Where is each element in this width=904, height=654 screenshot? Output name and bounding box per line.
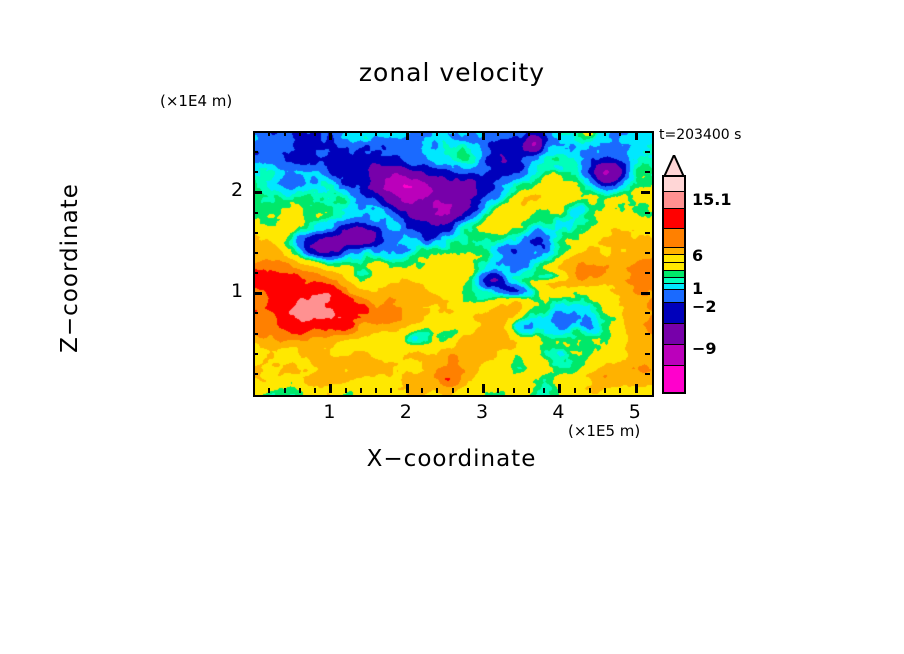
axis-tick [345,131,347,136]
axis-tick [253,151,258,153]
axis-tick [253,191,262,194]
axis-tick [299,388,301,393]
axis-tick [467,388,469,393]
axis-tick [513,131,515,136]
axis-tick [619,131,621,136]
axis-tick [528,388,530,393]
axis-tick [253,292,262,295]
axis-tick [299,131,301,136]
axis-tick [645,272,650,274]
axis-tick [543,131,545,136]
axis-tick [329,131,332,140]
colorbar-tick-label: 6 [692,246,703,265]
axis-tick [268,131,270,136]
colorbar-band [662,366,686,394]
axis-tick [390,131,392,136]
axis-tick [375,131,377,136]
axis-tick [574,388,576,393]
axis-tick [513,388,515,393]
axis-tick [253,252,258,254]
colorbar-band [662,209,686,228]
axis-tick [452,131,454,136]
colorbar-band [662,324,686,345]
axis-tick [543,388,545,393]
axis-tick [253,353,258,355]
axis-tick [314,388,316,393]
axis-tick [635,131,638,140]
colorbar-band [662,175,686,192]
axis-tick [482,384,485,393]
colorbar-band [662,345,686,366]
axis-tick [497,388,499,393]
x-tick-label: 1 [323,401,335,423]
x-axis-unit-label: (×1E5 m) [568,422,640,440]
colorbar [662,175,686,394]
axis-tick [589,388,591,393]
axis-tick [645,171,650,173]
colorbar-band [662,192,686,209]
axis-tick [253,272,258,274]
axis-tick [645,212,650,214]
axis-tick [421,131,423,136]
axis-tick [558,384,561,393]
x-tick-label: 4 [552,401,564,423]
axis-tick [645,353,650,355]
colorbar-tick-label: 15.1 [692,190,731,209]
colorbar-tick-label: −2 [692,297,717,316]
axis-tick [390,388,392,393]
colorbar-arrow-icon [662,155,686,177]
axis-tick [574,131,576,136]
contour-plot-area [253,131,654,397]
axis-tick [558,131,561,140]
axis-tick [406,131,409,140]
y-tick-label: 1 [231,280,243,302]
axis-tick [375,388,377,393]
axis-tick [253,212,258,214]
axis-tick [482,131,485,140]
colorbar-band [662,290,686,303]
axis-tick [589,131,591,136]
axis-tick [421,388,423,393]
axis-tick [641,292,650,295]
colorbar-band [662,229,686,248]
axis-tick [604,388,606,393]
axis-tick [645,333,650,335]
axis-tick [645,252,650,254]
axis-tick [452,388,454,393]
zonal-velocity-contour-field [255,133,652,395]
axis-tick [645,373,650,375]
axis-tick [253,232,258,234]
colorbar-band [662,303,686,324]
axis-tick [645,232,650,234]
axis-tick [645,151,650,153]
axis-tick [641,191,650,194]
axis-tick [284,131,286,136]
axis-tick [253,373,258,375]
y-tick-label: 2 [231,179,243,201]
x-tick-label: 5 [629,401,641,423]
colorbar-tick-label: 1 [692,279,703,298]
axis-tick [253,171,258,173]
axis-tick [497,131,499,136]
axis-tick [329,384,332,393]
x-axis-title: X−coordinate [253,446,650,472]
axis-tick [284,388,286,393]
axis-tick [314,131,316,136]
axis-tick [360,131,362,136]
axis-tick [635,384,638,393]
timestamp-label: t=203400 s [659,127,741,143]
axis-tick [253,312,258,314]
axis-tick [436,388,438,393]
axis-tick [345,388,347,393]
axis-tick [253,333,258,335]
page-title: zonal velocity [0,58,904,87]
axis-tick [436,131,438,136]
axis-tick [619,388,621,393]
axis-tick [467,131,469,136]
y-axis-unit-label: (×1E4 m) [160,92,232,110]
colorbar-tick-label: −9 [692,339,717,358]
axis-tick [604,131,606,136]
axis-tick [360,388,362,393]
figure-root: zonal velocity (×1E4 m) (×1E5 m) t=20340… [0,0,904,654]
axis-tick [406,384,409,393]
axis-tick [645,312,650,314]
x-tick-label: 2 [400,401,412,423]
y-axis-title: Z−coordinate [57,143,83,393]
x-tick-label: 3 [476,401,488,423]
axis-tick [528,131,530,136]
axis-tick [268,388,270,393]
